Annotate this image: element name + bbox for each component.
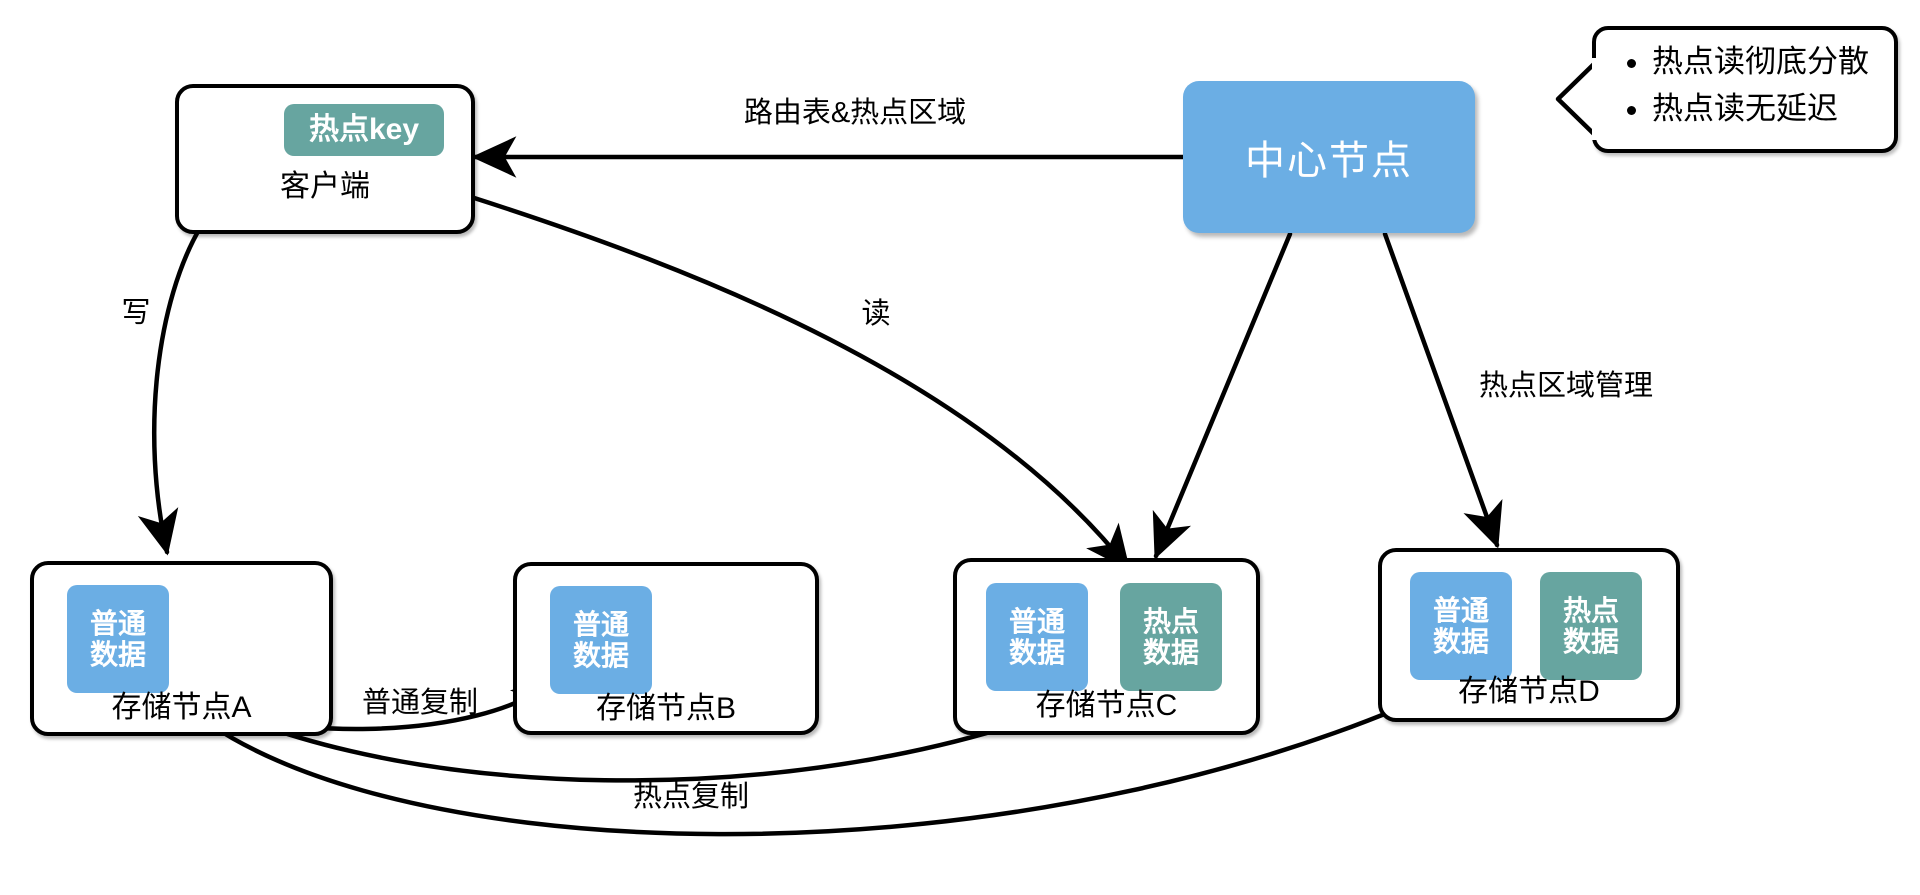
storage-node-c-caption: 存储节点C <box>957 689 1256 723</box>
center-node[interactable]: 中心节点 <box>1183 81 1475 233</box>
normal-data-badge: 普通 数据 <box>986 583 1088 691</box>
badge-line-1: 普通 <box>1433 595 1489 626</box>
storage-node-d-caption: 存储节点D <box>1382 675 1676 709</box>
callout-pointer-icon <box>1552 58 1604 140</box>
storage-node-d[interactable]: 普通 数据 热点 数据 存储节点D <box>1378 548 1680 722</box>
badge-line-2: 数据 <box>1009 637 1065 668</box>
badge-line-1: 普通 <box>1009 606 1065 637</box>
storage-node-a[interactable]: 普通 数据 存储节点A <box>30 561 333 736</box>
badge-line-2: 数据 <box>1563 626 1619 657</box>
storage-node-a-caption: 存储节点A <box>34 691 329 725</box>
edge-label-normal-replicate: 普通复制 <box>362 687 478 719</box>
badge-line-1: 普通 <box>573 609 629 640</box>
edge-label-hot-replicate: 热点复制 <box>633 781 749 813</box>
hotkey-badge: 热点key <box>284 104 444 156</box>
edge-label-route-table: 路由表&热点区域 <box>744 97 966 129</box>
hot-data-badge: 热点 数据 <box>1120 583 1222 691</box>
hot-data-badge: 热点 数据 <box>1540 572 1642 680</box>
edge-nodeA-to-nodeD <box>150 650 1520 834</box>
storage-node-b-caption: 存储节点B <box>517 692 815 726</box>
edge-client-to-nodeA <box>154 228 200 552</box>
storage-node-c[interactable]: 普通 数据 热点 数据 存储节点C <box>953 558 1260 735</box>
badge-line-2: 数据 <box>90 639 146 670</box>
callout-bullet-1: 热点读彻底分散 <box>1652 38 1880 85</box>
callout-box: 热点读彻底分散 热点读无延迟 <box>1592 26 1898 153</box>
badge-line-1: 普通 <box>90 608 146 639</box>
edge-center-to-nodeC <box>1156 234 1290 556</box>
badge-line-1: 热点 <box>1563 595 1619 626</box>
storage-node-b[interactable]: 普通 数据 存储节点B <box>513 562 819 735</box>
badge-line-2: 数据 <box>573 640 629 671</box>
client-caption: 客户端 <box>179 170 471 204</box>
edge-label-write: 写 <box>121 297 150 329</box>
badge-line-2: 数据 <box>1433 626 1489 657</box>
normal-data-badge: 普通 数据 <box>550 586 652 694</box>
center-node-label: 中心节点 <box>1245 128 1413 186</box>
badge-line-1: 热点 <box>1143 606 1199 637</box>
edge-client-to-nodeC <box>468 196 1128 568</box>
diagram-canvas: 热点key 客户端 中心节点 热点读彻底分散 热点读无延迟 普通 数据 存储节点… <box>0 0 1920 895</box>
edge-label-hot-region-manage: 热点区域管理 <box>1479 370 1653 402</box>
callout-bullet-2: 热点读无延迟 <box>1652 85 1880 132</box>
normal-data-badge: 普通 数据 <box>1410 572 1512 680</box>
normal-data-badge: 普通 数据 <box>67 585 169 693</box>
client-node[interactable]: 热点key 客户端 <box>175 84 475 234</box>
badge-line-2: 数据 <box>1143 637 1199 668</box>
hotkey-badge-label: 热点key <box>309 113 419 147</box>
edge-label-read: 读 <box>861 298 890 330</box>
